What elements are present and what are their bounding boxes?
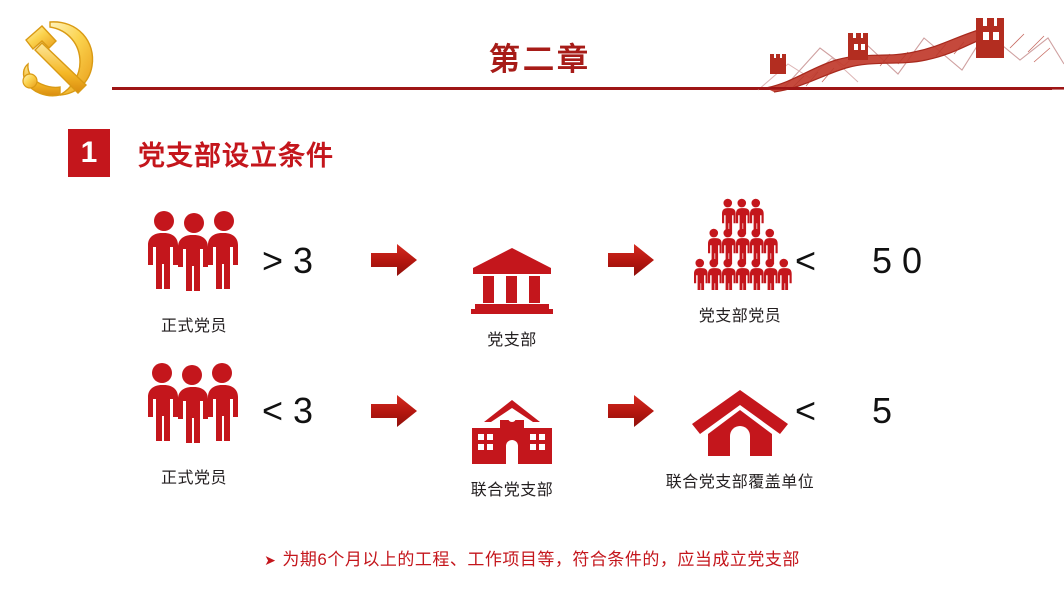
- triangle-bullet-icon: ➤: [264, 552, 276, 568]
- flow-cell-formal-members-1: 正式党员: [108, 208, 280, 336]
- flow-cell-formal-members-2: 正式党员: [108, 360, 280, 488]
- comparison-value: 50: [872, 240, 932, 281]
- comparison-greater-than-3: >3: [262, 240, 323, 282]
- flow-label: 党支部: [432, 326, 592, 350]
- flow-label: 正式党员: [108, 464, 280, 488]
- comparison-less-than-5-value: 5: [872, 390, 902, 432]
- section-title: 党支部设立条件: [138, 134, 334, 173]
- right-arrow-icon: [608, 243, 654, 277]
- right-arrow-icon: [371, 243, 417, 277]
- slide-header: 第二章: [0, 0, 1064, 110]
- comparison-value: 3: [293, 240, 323, 281]
- section-number-badge: 1: [68, 129, 110, 177]
- section-heading: 1 党支部设立条件: [68, 129, 334, 177]
- flow-cell-joint-party-branch: 联合党支部: [432, 372, 592, 500]
- flow-row-1: 正式党员 >3: [0, 198, 1064, 348]
- comparison-value: 3: [293, 390, 323, 431]
- comparison-symbol: >: [262, 240, 293, 281]
- flow-label: 联合党支部: [432, 476, 592, 500]
- page-title: 第二章: [400, 40, 680, 80]
- flow-label: 联合党支部覆盖单位: [640, 468, 840, 492]
- flow-label: 正式党员: [108, 312, 280, 336]
- flow-row-2: 正式党员 <3: [0, 352, 1064, 502]
- classical-building-icon: [432, 222, 592, 314]
- comparison-value: 5: [872, 390, 902, 431]
- three-people-icon: [108, 208, 280, 300]
- school-building-icon: [432, 372, 592, 464]
- comparison-symbol: <: [795, 240, 826, 281]
- comparison-less-than-3: <3: [262, 390, 323, 432]
- footnote-text: 为期6个月以上的工程、工作项目等，符合条件的，应当成立党支部: [282, 550, 799, 569]
- flow-cell-party-branch: 党支部: [432, 222, 592, 350]
- footnote: ➤为期6个月以上的工程、工作项目等，符合条件的，应当成立党支部: [0, 545, 1064, 570]
- party-hammer-sickle-emblem-icon: [8, 12, 108, 108]
- great-wall-illustration-icon: [748, 8, 1064, 94]
- three-people-icon: [108, 360, 280, 452]
- comparison-less-than-50-symbol: <: [795, 240, 826, 282]
- comparison-less-than-50-value: 50: [872, 240, 932, 282]
- comparison-less-than-5-symbol: <: [795, 390, 826, 432]
- right-arrow-icon: [371, 394, 417, 428]
- comparison-symbol: <: [795, 390, 826, 431]
- flow-label: 党支部党员: [652, 302, 828, 326]
- comparison-symbol: <: [262, 390, 293, 431]
